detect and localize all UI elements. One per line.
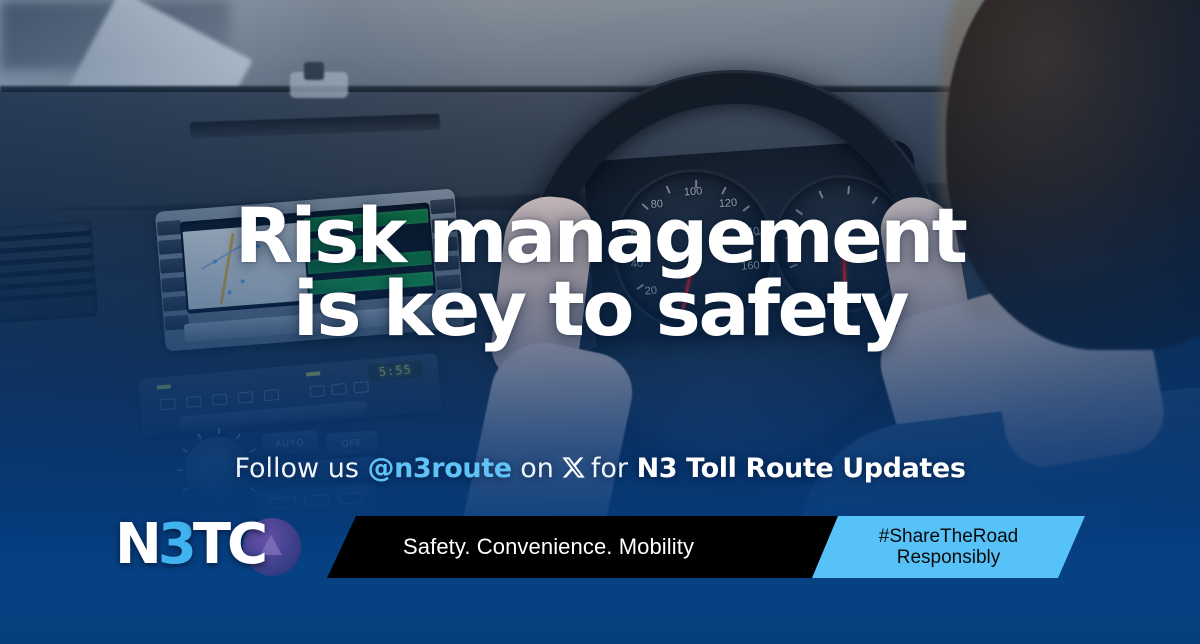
logo-letter-n: N bbox=[115, 512, 158, 577]
follow-connector: on bbox=[520, 453, 554, 484]
hashtag-line-1: #ShareTheRoad bbox=[812, 526, 1085, 547]
follow-us-line: Follow us @n3route onfor N3 Toll Route U… bbox=[0, 452, 1200, 486]
poster-canvas: 5:55 AUTO OFF bbox=[0, 0, 1200, 644]
n3tc-logo[interactable]: N3TC bbox=[115, 516, 264, 574]
twitter-handle-link[interactable]: @n3route bbox=[368, 453, 512, 484]
hashtag-line-2: Responsibly bbox=[812, 547, 1085, 568]
follow-prefix: Follow us bbox=[234, 453, 358, 484]
follow-suffix: N3 Toll Route Updates bbox=[637, 453, 966, 484]
hashtag-text: #ShareTheRoadResponsibly bbox=[812, 526, 1085, 568]
content-layer: Risk management is key to safety Follow … bbox=[0, 0, 1200, 644]
headline-line-2: is key to safety bbox=[0, 273, 1200, 346]
logo-letter-3: 3 bbox=[158, 512, 193, 577]
follow-middle: for bbox=[591, 453, 628, 484]
headline-line-1: Risk management bbox=[0, 200, 1200, 273]
headline: Risk management is key to safety bbox=[0, 200, 1200, 346]
tagline-text: Safety. Convenience. Mobility bbox=[403, 534, 694, 560]
logo-letters-tc: TC bbox=[193, 512, 264, 577]
x-twitter-icon[interactable] bbox=[561, 455, 586, 480]
hashtag-bar: #ShareTheRoadResponsibly bbox=[812, 516, 1085, 578]
tagline-bar: Safety. Convenience. Mobility bbox=[327, 516, 838, 578]
